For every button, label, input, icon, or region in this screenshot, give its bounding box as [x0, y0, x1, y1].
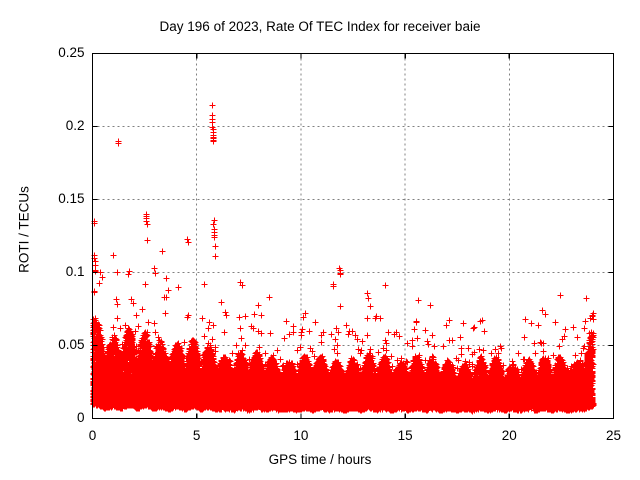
scatter-points	[90, 102, 596, 414]
y-tick-label: 0	[5, 410, 85, 425]
y-axis-label: ROTI / TECUs	[17, 150, 32, 310]
y-tick-label: 0.15	[5, 191, 85, 206]
x-tick-label: 10	[271, 428, 331, 443]
y-tick-label: 0.25	[5, 45, 85, 60]
y-tick-label: 0.1	[5, 264, 85, 279]
chart-figure: Day 196 of 2023, Rate Of TEC Index for r…	[0, 0, 640, 480]
y-tick-label: 0.2	[5, 118, 85, 133]
plot-canvas	[0, 0, 640, 480]
x-tick-label: 25	[584, 428, 640, 443]
x-tick-label: 0	[63, 428, 123, 443]
x-tick-label: 5	[167, 428, 227, 443]
y-tick-label: 0.05	[5, 337, 85, 352]
x-tick-label: 15	[375, 428, 435, 443]
x-tick-label: 20	[479, 428, 539, 443]
x-axis-label: GPS time / hours	[0, 452, 640, 467]
